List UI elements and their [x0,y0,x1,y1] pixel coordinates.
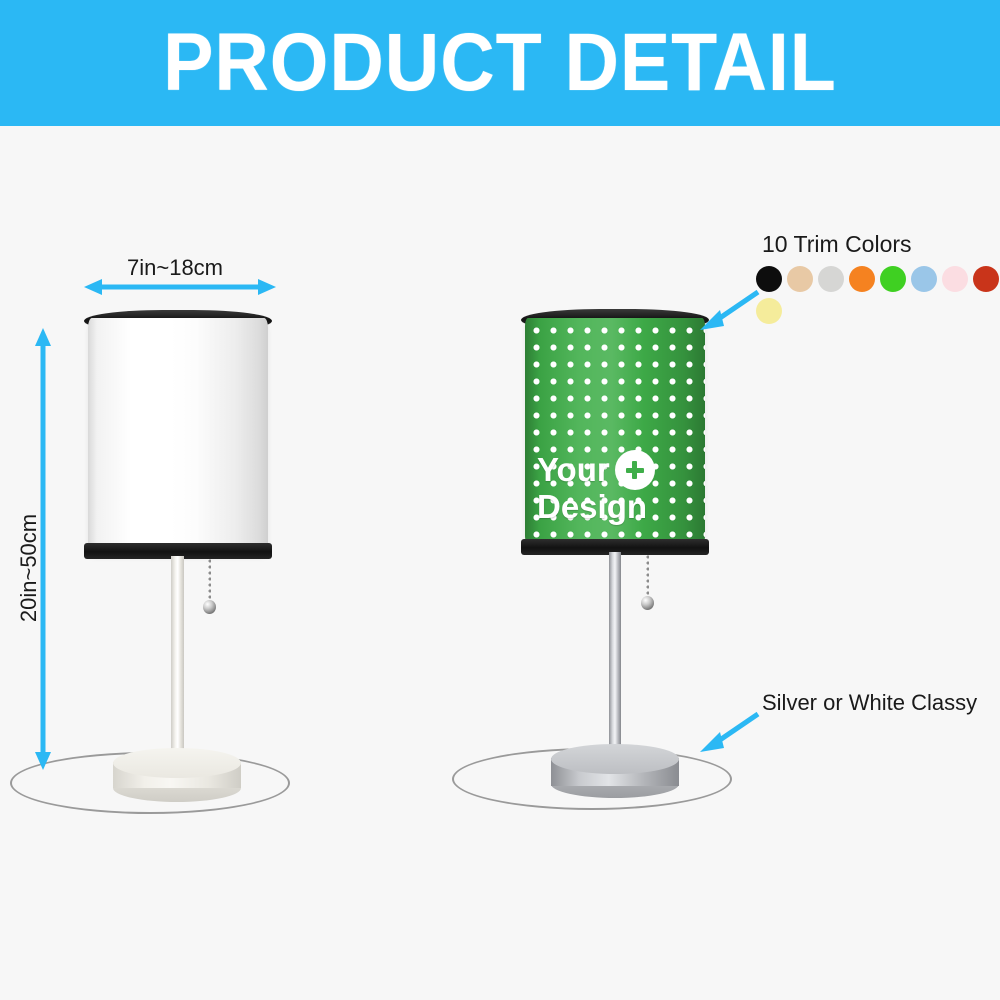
trim-swatch-red[interactable] [973,266,999,292]
trim-swatch-orange[interactable] [849,266,875,292]
green-lamp-base-top [551,744,679,774]
trim-swatch-green[interactable] [880,266,906,292]
white-lamp-base-top [113,748,241,778]
white-lamp-pole [171,556,184,756]
trim-swatch-light-gray[interactable] [818,266,844,292]
green-lamp-pole [609,552,621,748]
design-line-1: Your [537,453,610,487]
white-lamp-pull-chain [208,558,211,604]
base-finish-pointer-arrow [700,710,762,752]
shade-design-placeholder: Your Design [525,450,705,524]
product-detail-image: PRODUCT DETAIL Your Design [0,0,1000,1000]
green-lamp-shade: Your Design [525,318,705,544]
base-finish-label: Silver or White Classy [762,690,977,716]
trim-colors-title: 10 Trim Colors [762,231,912,258]
white-lamp-chain-ball [203,600,216,614]
design-line-2: Design [537,490,647,524]
width-dimension-arrow [84,276,276,298]
trim-swatch-pink[interactable] [942,266,968,292]
plus-icon [615,450,655,490]
height-dimension-arrow [32,328,54,770]
green-lamp-chain-ball [641,596,654,610]
white-lamp-shade [88,318,268,556]
green-lamp-pull-chain [646,554,649,600]
page-title: PRODUCT DETAIL [40,0,960,126]
trim-color-swatches[interactable] [756,266,1000,324]
trim-swatch-light-blue[interactable] [911,266,937,292]
trim-swatch-tan[interactable] [787,266,813,292]
trim-color-pointer-arrow [700,288,762,330]
header-banner: PRODUCT DETAIL [0,0,1000,126]
